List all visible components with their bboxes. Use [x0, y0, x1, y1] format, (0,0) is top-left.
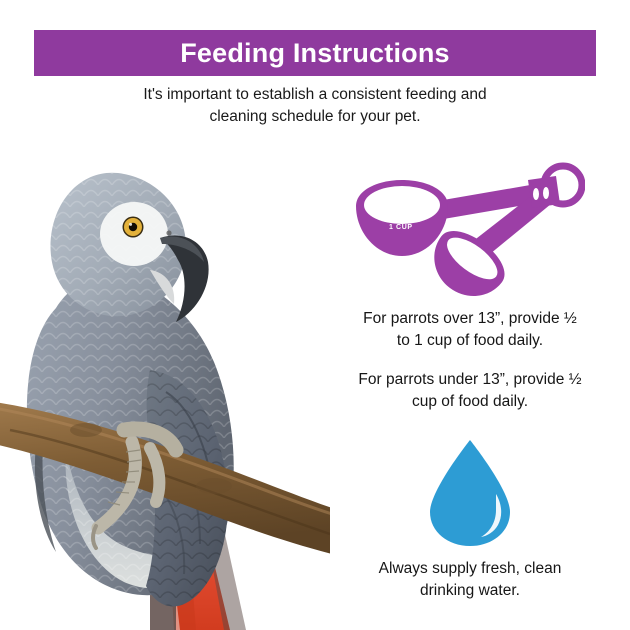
water-note-line-2: drinking water.: [310, 580, 630, 602]
water-note-line-1: Always supply fresh, clean: [310, 558, 630, 580]
parrot-illustration-svg: [0, 130, 330, 630]
feeding-over-line-2: to 1 cup of food daily.: [310, 330, 630, 352]
cup-label-full: 1 CUP: [389, 224, 413, 231]
feeding-under-line-2: cup of food daily.: [310, 391, 630, 413]
subtitle-line-1: It's important to establish a consistent…: [100, 84, 530, 106]
page-title: Feeding Instructions: [180, 40, 450, 67]
feeding-over-line-1: For parrots over 13”, provide ½: [310, 308, 630, 330]
subtitle: It's important to establish a consistent…: [100, 84, 530, 128]
measuring-spoons-graphic: 1 CUP 1/2 CUP: [310, 160, 630, 300]
feeding-note-under-13: For parrots under 13”, provide ½ cup of …: [310, 369, 630, 414]
subtitle-line-2: cleaning schedule for your pet.: [100, 106, 530, 128]
parrot-eye: [123, 217, 144, 238]
parrot-photo: [0, 130, 330, 630]
feeding-under-line-1: For parrots under 13”, provide ½: [310, 369, 630, 391]
water-drop-icon: [424, 438, 516, 548]
parrot-head: [50, 173, 208, 322]
feeding-note-over-13: For parrots over 13”, provide ½ to 1 cup…: [310, 308, 630, 353]
header-banner: Feeding Instructions: [34, 30, 596, 76]
right-column: 1 CUP 1/2 CUP For parrots over 13”, prov…: [310, 160, 630, 603]
water-note: Always supply fresh, clean drinking wate…: [310, 558, 630, 603]
measuring-spoons-icon: [350, 160, 585, 300]
water-drop-graphic: [310, 438, 630, 548]
